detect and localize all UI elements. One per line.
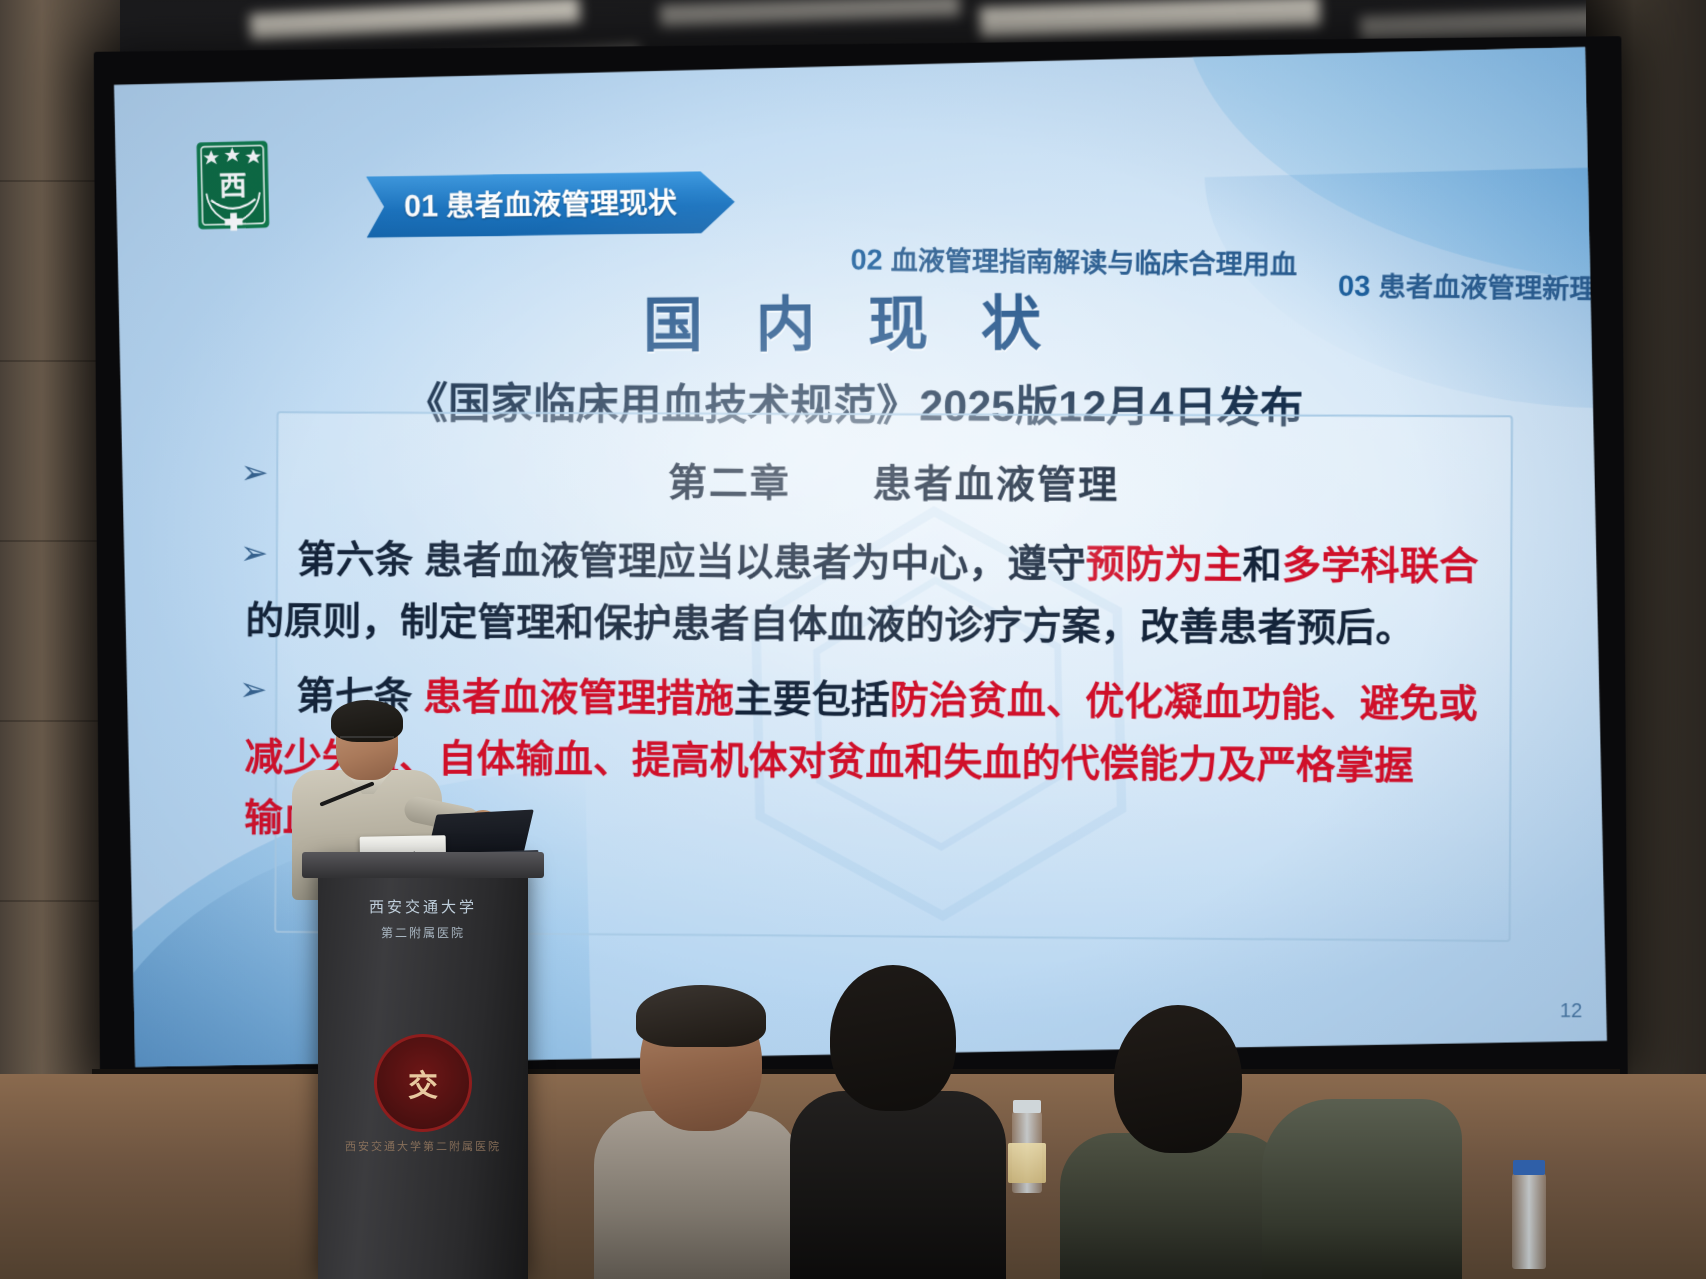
audience-body bbox=[1060, 1133, 1290, 1279]
lectern-university-name: 西安交通大学 bbox=[338, 896, 508, 917]
chapter-heading: 第二章 患者血液管理 bbox=[246, 454, 1547, 517]
article-6-line-2: 的原则，制定管理和保护患者自体血液的诊疗方案，改善患者预后。 bbox=[245, 594, 1546, 658]
lectern: 西安交通大学 第二附属医院 交 西安交通大学第二附属医院 bbox=[318, 862, 528, 1279]
university-emblem-icon: 西 bbox=[176, 128, 289, 248]
audience-head bbox=[1114, 1005, 1242, 1153]
audience-member-3 bbox=[1060, 1009, 1290, 1279]
article-7-line-1: ➢ 第七条 患者血液管理措施主要包括防治贫血、优化凝血功能、避免或 bbox=[245, 669, 1546, 734]
article-6-seg-1-highlight: 预防为主 bbox=[1086, 544, 1243, 588]
audience-member-2 bbox=[790, 949, 1006, 1279]
lectern-hospital-name: 第二附属医院 bbox=[338, 924, 508, 941]
water-bottle-2 bbox=[1512, 1173, 1546, 1269]
chevron-bullet-icon: ➢ bbox=[240, 537, 268, 571]
water-bottle-1-cap bbox=[1013, 1100, 1041, 1113]
nav-item-01-number: 01 bbox=[404, 188, 439, 223]
lectern-inscription: 西安交通大学 第二附属医院 bbox=[338, 896, 508, 941]
audience-member-1 bbox=[594, 979, 800, 1279]
article-7-seg-2: 主要包括 bbox=[734, 678, 890, 722]
ceiling-light bbox=[980, 0, 1321, 38]
nav-item-02-number: 02 bbox=[850, 244, 883, 276]
article-6-seg-2: 和 bbox=[1243, 545, 1283, 588]
lectern-seal: 交 bbox=[374, 1034, 472, 1132]
slide-title: 国 内 现 状 bbox=[119, 272, 1591, 366]
audience-head bbox=[830, 965, 956, 1111]
audience-body bbox=[1262, 1099, 1462, 1279]
lectern-top bbox=[302, 852, 544, 878]
conference-room-photo: 西 01患者血液管理现状 02血液管理指南解读与临床合理用血 03患者血液管理新… bbox=[0, 0, 1706, 1279]
slide-page-number: 12 bbox=[1559, 1000, 1582, 1023]
article-6-seg-0: 第六条 患者血液管理应当以患者为中心，遵守 bbox=[297, 539, 1086, 587]
svg-text:西: 西 bbox=[219, 171, 247, 203]
lectern-seal-caption: 西安交通大学第二附属医院 bbox=[345, 1138, 501, 1154]
article-7-line-2: 减少失血、自体输血、提高机体对贫血和失血的代偿能力及严格掌握 bbox=[244, 730, 1545, 795]
water-bottle-2-cap bbox=[1513, 1160, 1545, 1175]
article-6-seg-3-highlight: 多学科联合 bbox=[1282, 545, 1479, 589]
audience-hair bbox=[636, 985, 766, 1047]
chevron-bullet-icon: ➢ bbox=[239, 673, 267, 707]
audience-member-4 bbox=[1262, 1099, 1462, 1279]
ceiling-light bbox=[660, 0, 961, 27]
audience-body bbox=[594, 1111, 800, 1279]
article-6-continuation: 的原则，制定管理和保护患者自体血液的诊疗方案，改善患者预后。 bbox=[245, 600, 1414, 651]
article-6-line-1: ➢ 第六条 患者血液管理应当以患者为中心，遵守预防为主和多学科联合 bbox=[246, 533, 1547, 596]
nav-item-01[interactable]: 01患者血液管理现状 bbox=[366, 171, 735, 238]
nav-item-01-label: 患者血液管理现状 bbox=[446, 188, 677, 223]
ceiling-light bbox=[250, 0, 581, 41]
water-bottle-1-label bbox=[1008, 1143, 1046, 1183]
audience-body bbox=[790, 1091, 1006, 1279]
article-7-seg-1-highlight: 患者血液管理措施 bbox=[423, 676, 734, 721]
speaker-glasses bbox=[340, 736, 394, 752]
article-7-seg-3-highlight: 防治贫血、优化凝血功能、避免或 bbox=[890, 679, 1478, 726]
lectern-seal-character: 交 bbox=[408, 1061, 438, 1105]
